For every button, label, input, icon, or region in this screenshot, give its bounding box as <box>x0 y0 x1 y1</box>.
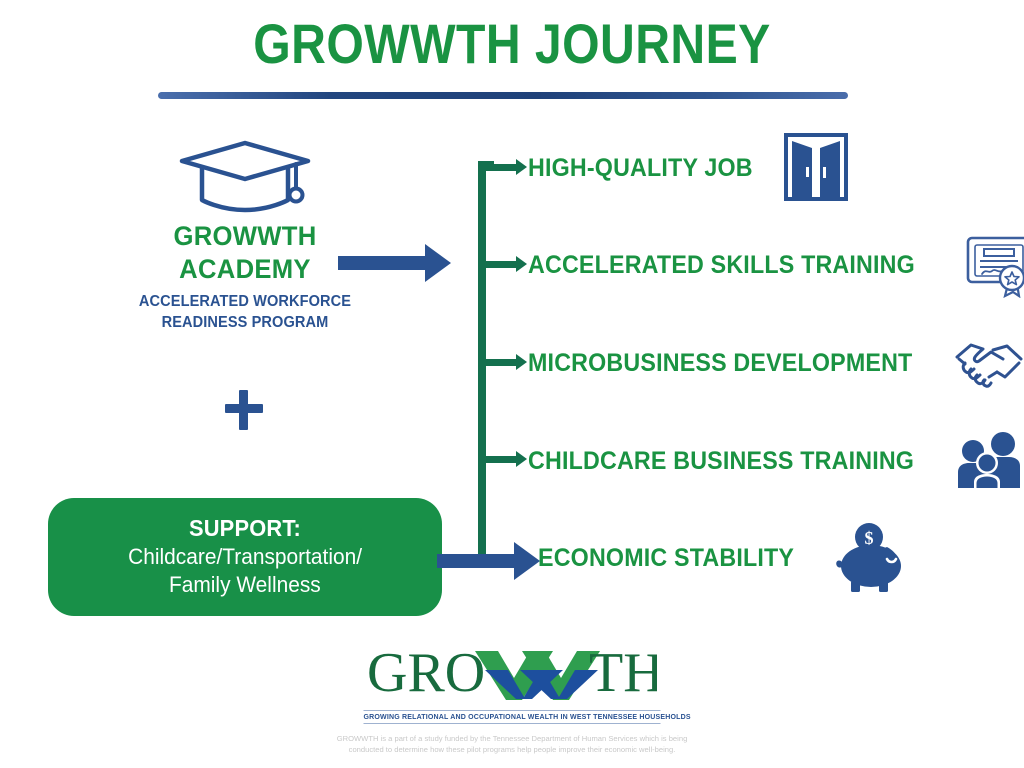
support-line-2: Family Wellness <box>169 571 321 600</box>
footer-logo: GRO TH GROWING RELATIONAL AND OCCUPATION… <box>0 645 1024 724</box>
infographic-canvas: GROWWTH JOURNEY GROWWTH ACADEMY ACCELERA… <box>0 0 1024 768</box>
outcome-row-economic-stability: ECONOMIC STABILITY $ <box>538 534 911 582</box>
branch-connector-4 <box>484 456 518 463</box>
arrow-support-to-economic-stability <box>437 542 540 580</box>
disclaimer-line-1: GROWWTH is a part of a study funded by t… <box>0 733 1024 744</box>
logo-text-before: GRO <box>367 645 485 703</box>
logo-text-after: TH <box>589 645 657 703</box>
plus-icon <box>222 388 266 432</box>
branch-tip <box>516 256 527 272</box>
arrow-head <box>514 542 540 580</box>
logo-wordmark: GRO TH <box>367 645 657 703</box>
branch-connector-3 <box>484 359 518 366</box>
arrow-academy-to-outcomes <box>338 244 451 282</box>
outcome-row-accelerated-skills-training: ACCELERATED SKILLS TRAINING <box>528 241 1024 289</box>
academy-subtitle: ACCELERATED WORKFORCE READINESS PROGRAM <box>118 292 372 334</box>
outcome-spine-line <box>478 161 486 555</box>
support-box: SUPPORT: Childcare/Transportation/ Famil… <box>48 498 442 616</box>
arrow-shaft <box>437 554 515 568</box>
disclaimer: GROWWTH is a part of a study funded by t… <box>0 733 1024 756</box>
outcome-row-high-quality-job: HIGH-QUALITY JOB <box>528 144 850 192</box>
outcome-label: ACCELERATED SKILLS TRAINING <box>528 251 915 280</box>
branch-connector-1 <box>484 164 518 171</box>
disclaimer-line-2: conducted to determine how these pilot p… <box>0 744 1024 755</box>
piggy-bank-icon: $ <box>835 521 911 595</box>
title-divider <box>158 92 848 99</box>
open-doors-icon <box>782 131 850 205</box>
support-line-1: Childcare/Transportation/ <box>128 543 362 572</box>
arrow-head <box>425 244 451 282</box>
outcome-label: CHILDCARE BUSINESS TRAINING <box>528 447 914 476</box>
handshake-icon <box>953 333 1024 393</box>
outcome-label: HIGH-QUALITY JOB <box>528 154 753 183</box>
certificate-icon <box>956 232 1024 298</box>
branch-connector-2 <box>484 261 518 268</box>
outcome-label: ECONOMIC STABILITY <box>538 544 794 573</box>
academy-title-line1: GROWWTH <box>117 220 374 253</box>
outcome-label: MICROBUSINESS DEVELOPMENT <box>528 349 912 378</box>
graduation-cap-icon <box>178 140 312 214</box>
academy-title: GROWWTH ACADEMY <box>117 220 374 286</box>
logo-tagline: GROWING RELATIONAL AND OCCUPATIONAL WEAL… <box>364 710 661 724</box>
branch-tip <box>516 159 527 175</box>
outcome-row-microbusiness-development: MICROBUSINESS DEVELOPMENT <box>528 339 1024 387</box>
branch-tip <box>516 354 527 370</box>
academy-subtitle-line2: READINESS PROGRAM <box>118 313 372 334</box>
page-title: GROWWTH JOURNEY <box>72 12 953 76</box>
academy-subtitle-line1: ACCELERATED WORKFORCE <box>118 292 372 313</box>
growwth-academy-block: GROWWTH ACADEMY ACCELERATED WORKFORCE RE… <box>110 140 380 334</box>
support-heading: SUPPORT: <box>189 514 301 543</box>
branch-tip <box>516 451 527 467</box>
outcome-row-childcare-business-training: CHILDCARE BUSINESS TRAINING <box>528 437 1024 485</box>
arrow-shaft <box>338 256 426 270</box>
family-group-icon <box>955 430 1024 492</box>
academy-title-line2: ACADEMY <box>117 253 374 286</box>
